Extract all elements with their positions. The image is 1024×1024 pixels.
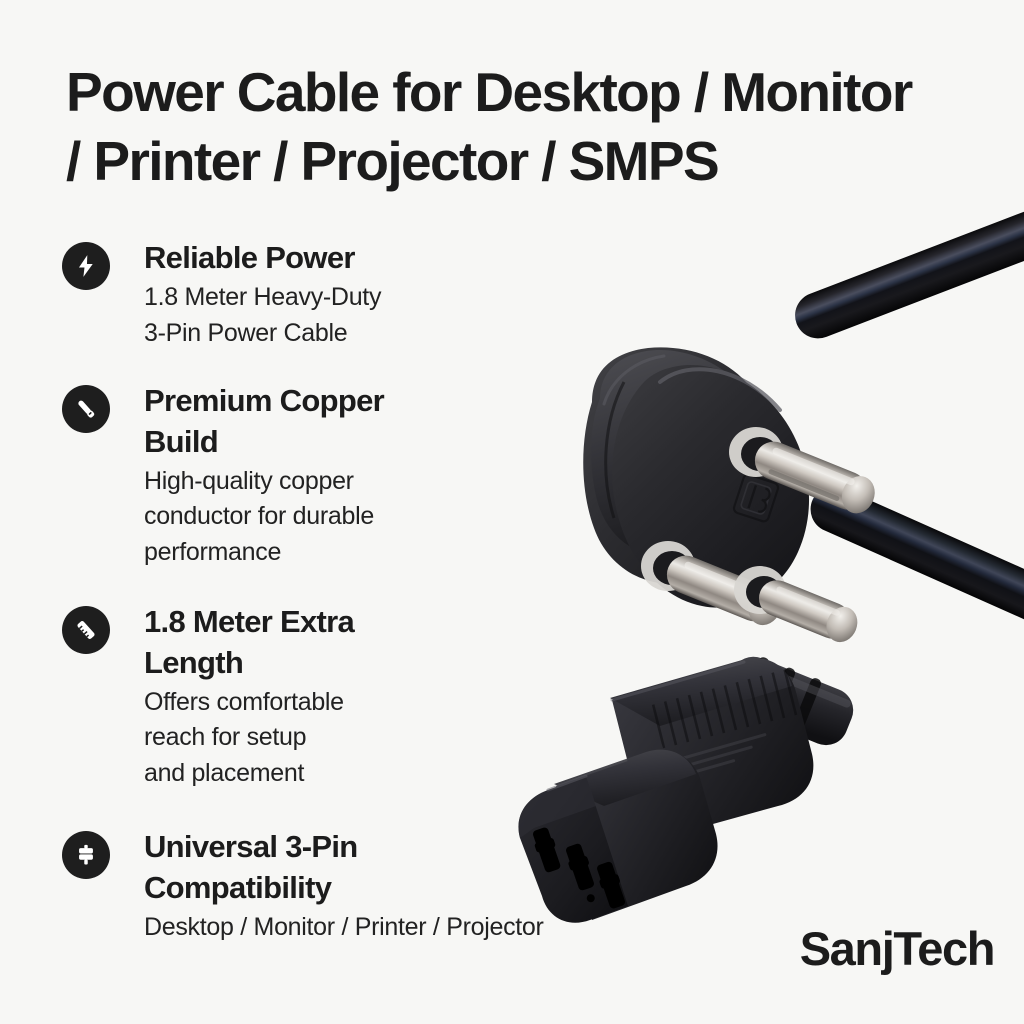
page-title: Power Cable for Desktop / Monitor / Prin…: [66, 58, 1006, 196]
lightning-bolt-icon: [62, 242, 110, 290]
feature-description: High-quality copper conductor for durabl…: [144, 464, 642, 571]
ruler-measure-icon: [62, 606, 110, 654]
feature-heading: Universal 3-Pin Compatibility: [144, 827, 642, 908]
feature-heading: 1.8 Meter Extra Length: [144, 602, 642, 683]
feature-item-reliable-power: Reliable Power 1.8 Meter Heavy-Duty 3-Pi…: [62, 238, 642, 351]
feature-item-extra-length: 1.8 Meter Extra Length Offers comfortabl…: [62, 602, 642, 791]
product-listing-image: Power Cable for Desktop / Monitor / Prin…: [0, 0, 1024, 1024]
brand-logo: SanjTech: [800, 921, 994, 976]
title-line-1: Power Cable for Desktop / Monitor: [66, 61, 912, 123]
cable-wire-icon: [62, 385, 110, 433]
feature-item-universal-compatibility: Universal 3-Pin Compatibility Desktop / …: [62, 827, 642, 945]
title-line-2: / Printer / Projector / SMPS: [66, 130, 718, 192]
feature-description: 1.8 Meter Heavy-Duty 3-Pin Power Cable: [144, 280, 642, 351]
feature-list: Reliable Power 1.8 Meter Heavy-Duty 3-Pi…: [62, 238, 642, 946]
feature-description: Desktop / Monitor / Printer / Projector: [144, 910, 642, 946]
marketing-copy: Power Cable for Desktop / Monitor / Prin…: [0, 0, 1024, 1024]
plug-socket-icon: [62, 831, 110, 879]
feature-heading: Premium Copper Build: [144, 381, 642, 462]
feature-description: Offers comfortable reach for setup and p…: [144, 685, 642, 792]
feature-heading: Reliable Power: [144, 238, 642, 278]
feature-item-premium-copper-build: Premium Copper Build High-quality copper…: [62, 381, 642, 570]
